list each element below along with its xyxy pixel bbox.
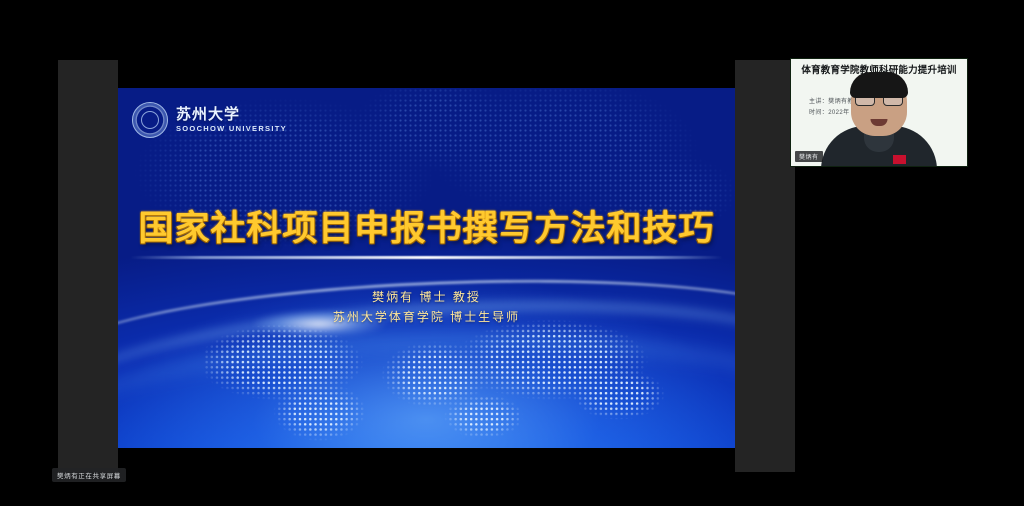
- letterbox-bar-right: [735, 60, 795, 472]
- presenter-avatar: [820, 84, 938, 167]
- slide-title: 国家社科项目申报书撰写方法和技巧: [118, 200, 735, 251]
- university-seal-icon: [132, 102, 168, 138]
- presenter-name-line: 樊炳有 博士 教授: [118, 288, 735, 308]
- letterbox-bar-left: [58, 60, 118, 472]
- slide-title-divider: [130, 256, 722, 259]
- university-name-cn: 苏州大学: [176, 107, 287, 122]
- participant-name-badge: 樊炳有: [795, 151, 823, 162]
- presenter-video-tile[interactable]: 体育教育学院教师科研能力提升培训 主讲：樊炳有教授 时间：2022年 樊炳有: [790, 58, 968, 167]
- presenter-hair: [850, 72, 908, 98]
- university-logo: 苏州大学 SOOCHOW UNIVERSITY: [132, 102, 287, 138]
- shared-slide[interactable]: 苏州大学 SOOCHOW UNIVERSITY 国家社科项目申报书撰写方法和技巧…: [118, 88, 735, 448]
- screen-share-status-label: 樊炳有正在共享屏幕: [52, 468, 126, 482]
- university-wordmark: 苏州大学 SOOCHOW UNIVERSITY: [176, 107, 287, 133]
- university-name-en: SOOCHOW UNIVERSITY: [176, 125, 287, 133]
- presenter-flag-pin-icon: [893, 155, 906, 164]
- screen-share-viewport: 苏州大学 SOOCHOW UNIVERSITY 国家社科项目申报书撰写方法和技巧…: [0, 0, 1024, 506]
- slide-presenter-block: 樊炳有 博士 教授 苏州大学体育学院 博士生导师: [118, 288, 735, 328]
- presenter-affiliation-line: 苏州大学体育学院 博士生导师: [118, 308, 735, 328]
